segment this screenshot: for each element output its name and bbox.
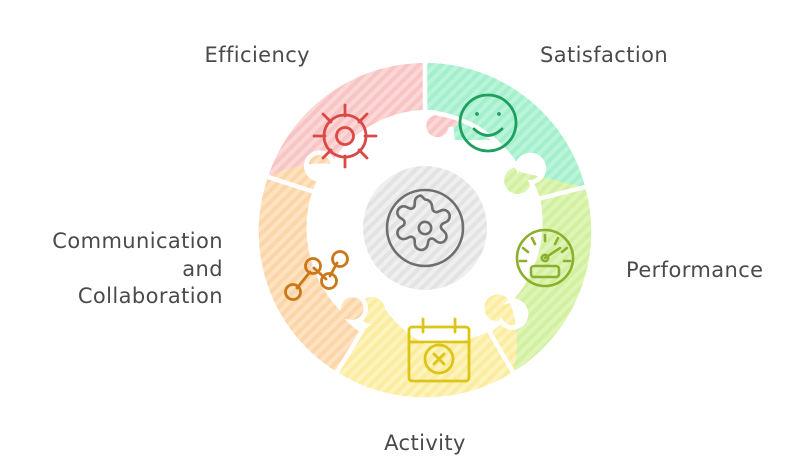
segment-label-activity: Activity	[330, 430, 520, 458]
center-hub[interactable]	[363, 166, 487, 290]
segment-label-performance: Performance	[626, 257, 801, 285]
segment-label-communication: Communication and Collaboration	[8, 228, 223, 311]
segment-label-efficiency: Efficiency	[120, 42, 310, 70]
segment-label-satisfaction: Satisfaction	[540, 42, 750, 70]
